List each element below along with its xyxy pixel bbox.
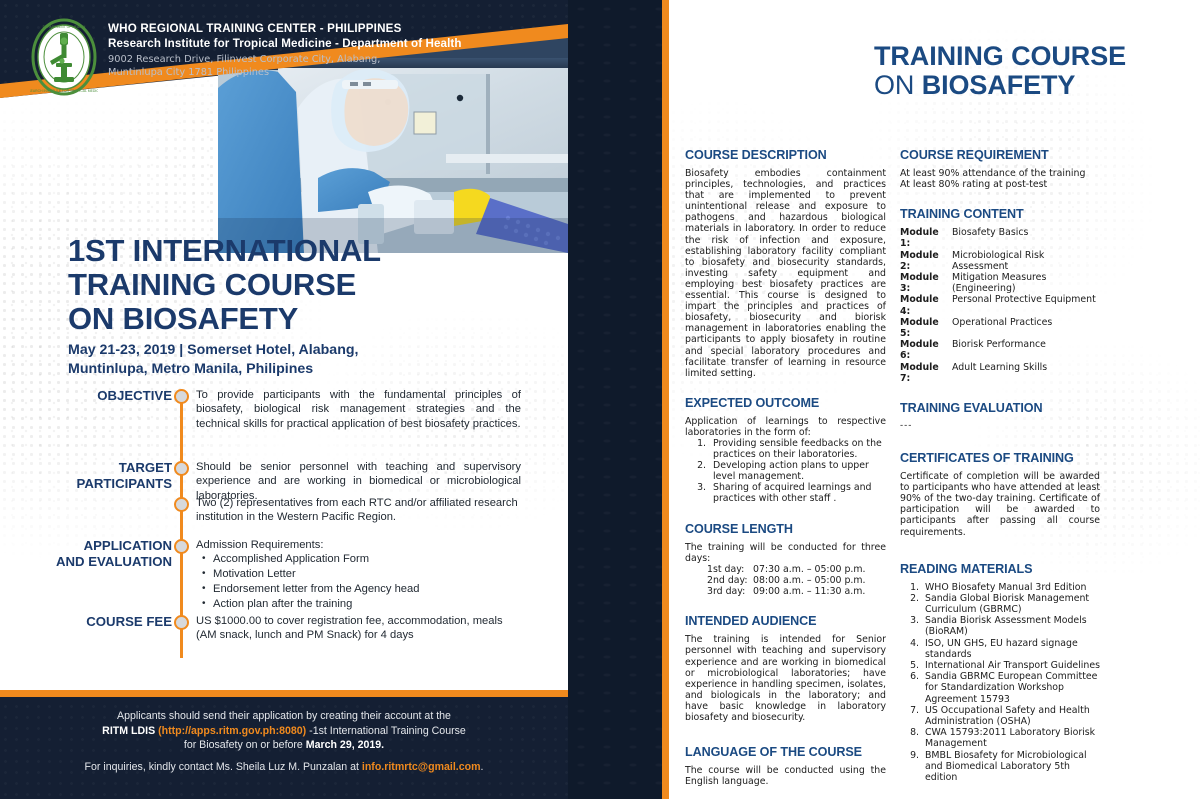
course-day-row: 3rd day:09:00 a.m. – 11:30 a.m. bbox=[707, 586, 886, 597]
timeline-label-application-l1: APPLICATION bbox=[0, 538, 172, 554]
org-address: 9002 Research Drive, Filinvest Corporate… bbox=[108, 54, 528, 79]
ritm-ldis-label: RITM LDIS bbox=[102, 725, 155, 737]
application-course-text: -1st International Training Course bbox=[309, 725, 466, 737]
list-item: Sandia Global Biorisk Management Curricu… bbox=[922, 593, 1100, 615]
module-row: Module 6:Biorisk Performance bbox=[900, 339, 1100, 361]
module-row: Module 7:Adult Learning Skills bbox=[900, 362, 1100, 384]
svg-text:RESEARCH INSTITUTE FOR TROPICA: RESEARCH INSTITUTE FOR TROPICAL MEDICINE bbox=[30, 89, 98, 93]
text-certificates-of-training: Certificate of completion will be awarde… bbox=[900, 471, 1100, 538]
heading-intended-audience: INTENDED AUDIENCE bbox=[685, 614, 886, 629]
list-item: Sandia GBRMC European Committee for Stan… bbox=[922, 671, 1100, 705]
ritm-doh-seal-logo: DEPARTMENT OF HEALTH RESEARCH INSTITUTE … bbox=[30, 17, 98, 97]
application-instructions-line3: for Biosafety on or before March 29, 201… bbox=[30, 738, 538, 753]
timeline-body-objective: To provide participants with the fundame… bbox=[196, 388, 521, 431]
module-key: Module 5: bbox=[900, 317, 952, 339]
admission-requirements-list: Accomplished Application Form Motivation… bbox=[200, 552, 521, 612]
list-reading-materials: WHO Biosafety Manual 3rd Edition Sandia … bbox=[906, 582, 1100, 784]
poster-title-line3: ON BIOSAFETY bbox=[68, 302, 498, 336]
module-row: Module 3:Mitigation Measures (Engineerin… bbox=[900, 272, 1100, 294]
text-training-evaluation: --- bbox=[900, 421, 1100, 429]
module-value: Personal Protective Equipment bbox=[952, 294, 1100, 316]
contact-email[interactable]: info.ritmrtc@gmail.com bbox=[362, 761, 481, 773]
module-value: Adult Learning Skills bbox=[952, 362, 1100, 384]
module-value: Mitigation Measures (Engineering) bbox=[952, 272, 1100, 294]
list-item: WHO Biosafety Manual 3rd Edition bbox=[922, 582, 1100, 593]
module-value: Biorisk Performance bbox=[952, 339, 1100, 361]
ritm-ldis-url[interactable]: (http://apps.ritm.gov.ph:8080) bbox=[158, 725, 306, 737]
text-course-length-intro: The training will be conducted for three… bbox=[685, 542, 886, 564]
application-instructions-line1: Applicants should send their application… bbox=[30, 709, 538, 724]
course-day-time: 09:00 a.m. – 11:30 a.m. bbox=[753, 586, 865, 597]
poster-date-line1: May 21-23, 2019 | Somerset Hotel, Alaban… bbox=[68, 341, 498, 360]
list-item: Motivation Letter bbox=[200, 567, 521, 582]
deadline-date: March 29, 2019. bbox=[306, 739, 384, 751]
right-title-line2: ON BIOSAFETY bbox=[874, 71, 1194, 100]
org-address-line1: 9002 Research Drive, Filinvest Corporate… bbox=[108, 54, 528, 67]
list-item: Endorsement letter from the Agency head bbox=[200, 582, 521, 597]
right-title-line1: TRAINING COURSE bbox=[874, 42, 1194, 71]
heading-training-evaluation: TRAINING EVALUATION bbox=[900, 401, 1100, 416]
heading-course-description: COURSE DESCRIPTION bbox=[685, 148, 886, 163]
list-training-modules: Module 1:Biosafety Basics Module 2:Micro… bbox=[900, 227, 1100, 384]
heading-training-content: TRAINING CONTENT bbox=[900, 207, 1100, 222]
text-course-description: Biosafety embodies containment principle… bbox=[685, 168, 886, 379]
module-row: Module 1:Biosafety Basics bbox=[900, 227, 1100, 249]
svg-text:DEPARTMENT OF HEALTH: DEPARTMENT OF HEALTH bbox=[43, 25, 86, 29]
list-item: Accomplished Application Form bbox=[200, 552, 521, 567]
module-row: Module 5:Operational Practices bbox=[900, 317, 1100, 339]
timeline-label-target-l1: TARGET bbox=[0, 460, 172, 476]
text-intended-audience: The training is intended for Senior pers… bbox=[685, 634, 886, 723]
timeline-label-application: APPLICATION AND EVALUATION bbox=[0, 538, 172, 570]
poster-title-line2: TRAINING COURSE bbox=[68, 268, 498, 302]
heading-language-of-course: LANGUAGE OF THE COURSE bbox=[685, 745, 886, 760]
module-key: Module 2: bbox=[900, 250, 952, 272]
course-day-time: 08:00 a.m. – 05:00 p.m. bbox=[753, 575, 866, 586]
right-column-right: COURSE REQUIREMENT At least 90% attendan… bbox=[900, 148, 1100, 783]
timeline-label-objective: OBJECTIVE bbox=[0, 388, 172, 404]
timeline-label-target-l2: PARTICIPANTS bbox=[0, 476, 172, 492]
application-instructions: Applicants should send their application… bbox=[30, 709, 538, 753]
spine-orange-rule bbox=[662, 0, 669, 799]
list-item: ISO, UN GHS, EU hazard signage standards bbox=[922, 638, 1100, 660]
list-item: BMBL Biosafety for Microbiological and B… bbox=[922, 750, 1100, 784]
list-item: Developing action plans to upper level m… bbox=[709, 460, 886, 482]
list-item: Sandia Biorisk Assessment Models (BioRAM… bbox=[922, 615, 1100, 637]
org-name-line2: Research Institute for Tropical Medicine… bbox=[108, 36, 528, 51]
course-day-label: 1st day: bbox=[707, 564, 753, 575]
course-day-row: 2nd day:08:00 a.m. – 05:00 p.m. bbox=[707, 575, 886, 586]
module-row: Module 2:Microbiological Risk Assessment bbox=[900, 250, 1100, 272]
list-item: International Air Transport Guidelines bbox=[922, 660, 1100, 671]
course-day-row: 1st day:07:30 a.m. – 05:00 p.m. bbox=[707, 564, 886, 575]
timeline-body-application: Admission Requirements: Accomplished App… bbox=[196, 538, 521, 612]
module-key: Module 1: bbox=[900, 227, 952, 249]
admission-requirements-label: Admission Requirements: bbox=[196, 538, 521, 552]
course-day-time: 07:30 a.m. – 05:00 p.m. bbox=[753, 564, 866, 575]
heading-expected-outcome: EXPECTED OUTCOME bbox=[685, 396, 886, 411]
spine-texture bbox=[568, 0, 662, 799]
list-expected-outcome: Providing sensible feedbacks on the prac… bbox=[696, 438, 886, 505]
module-value: Microbiological Risk Assessment bbox=[952, 250, 1100, 272]
poster-date-venue: May 21-23, 2019 | Somerset Hotel, Alaban… bbox=[68, 341, 498, 378]
timeline-dot-application bbox=[174, 539, 189, 554]
poster-title-line1: 1ST INTERNATIONAL bbox=[68, 234, 498, 268]
timeline-dot-target-2 bbox=[174, 497, 189, 512]
timeline-dot-objective bbox=[174, 389, 189, 404]
module-key: Module 7: bbox=[900, 362, 952, 384]
contact-prefix: For inquiries, kindly contact Ms. Sheila… bbox=[85, 761, 359, 773]
timeline-body-target-2: Two (2) representatives from each RTC an… bbox=[196, 496, 521, 525]
module-value: Biosafety Basics bbox=[952, 227, 1100, 249]
course-day-label: 2nd day: bbox=[707, 575, 753, 586]
list-item: Providing sensible feedbacks on the prac… bbox=[709, 438, 886, 460]
timeline-body-course-fee: US $1000.00 to cover registration fee, a… bbox=[196, 614, 521, 643]
poster-canvas: DEPARTMENT OF HEALTH RESEARCH INSTITUTE … bbox=[0, 0, 1200, 799]
timeline-dot-target bbox=[174, 461, 189, 476]
timeline-label-target: TARGET PARTICIPANTS bbox=[0, 460, 172, 492]
contact-period: . bbox=[481, 761, 484, 773]
left-brochure-panel: DEPARTMENT OF HEALTH RESEARCH INSTITUTE … bbox=[0, 0, 568, 799]
list-item: Action plan after the training bbox=[200, 597, 521, 612]
module-key: Module 4: bbox=[900, 294, 952, 316]
right-title-on: ON bbox=[874, 70, 922, 100]
organization-header-text: WHO REGIONAL TRAINING CENTER - PHILIPPIN… bbox=[108, 22, 528, 79]
text-course-requirement-1: At least 90% attendance of the training bbox=[900, 168, 1100, 179]
course-day-label: 3rd day: bbox=[707, 586, 753, 597]
right-brochure-panel: TRAINING COURSE ON BIOSAFETY COURSE DESC… bbox=[669, 0, 1200, 799]
right-column-left: COURSE DESCRIPTION Biosafety embodies co… bbox=[685, 148, 886, 787]
application-instructions-line2: RITM LDIS (http://apps.ritm.gov.ph:8080)… bbox=[30, 724, 538, 739]
deadline-prefix: for Biosafety on or before bbox=[184, 739, 303, 751]
heading-reading-materials: READING MATERIALS bbox=[900, 562, 1100, 577]
module-key: Module 3: bbox=[900, 272, 952, 294]
heading-certificates-of-training: CERTIFICATES OF TRAINING bbox=[900, 451, 1100, 466]
center-spine bbox=[568, 0, 662, 799]
poster-date-line2: Muntinlupa, Metro Manila, Philipines bbox=[68, 360, 498, 379]
module-row: Module 4:Personal Protective Equipment bbox=[900, 294, 1100, 316]
timeline-dot-course-fee bbox=[174, 615, 189, 630]
timeline-label-course-fee: COURSE FEE bbox=[0, 614, 172, 630]
footer-orange-rule bbox=[0, 690, 568, 697]
text-expected-outcome-intro: Application of learnings to respective l… bbox=[685, 416, 886, 438]
list-item: CWA 15793:2011 Laboratory Biorisk Manage… bbox=[922, 727, 1100, 749]
contact-line: For inquiries, kindly contact Ms. Sheila… bbox=[30, 760, 538, 774]
details-timeline: OBJECTIVE To provide participants with t… bbox=[0, 388, 568, 674]
text-course-requirement-2: At least 80% rating at post-test bbox=[900, 179, 1100, 190]
text-language-of-course: The course will be conducted using the E… bbox=[685, 765, 886, 787]
list-item: US Occupational Safety and Health Admini… bbox=[922, 705, 1100, 727]
timeline-label-application-l2: AND EVALUATION bbox=[0, 554, 172, 570]
list-item: Sharing of acquired learnings and practi… bbox=[709, 482, 886, 504]
right-title-biosafety: BIOSAFETY bbox=[922, 70, 1076, 100]
right-panel-title: TRAINING COURSE ON BIOSAFETY bbox=[874, 42, 1194, 100]
list-course-days: 1st day:07:30 a.m. – 05:00 p.m. 2nd day:… bbox=[707, 564, 886, 598]
poster-title: 1ST INTERNATIONAL TRAINING COURSE ON BIO… bbox=[68, 234, 498, 336]
module-key: Module 6: bbox=[900, 339, 952, 361]
module-value: Operational Practices bbox=[952, 317, 1100, 339]
org-name-line1: WHO REGIONAL TRAINING CENTER - PHILIPPIN… bbox=[108, 22, 528, 36]
heading-course-requirement: COURSE REQUIREMENT bbox=[900, 148, 1100, 163]
org-address-line2: Muntinlupa City 1781 Philippines bbox=[108, 67, 528, 80]
heading-course-length: COURSE LENGTH bbox=[685, 522, 886, 537]
